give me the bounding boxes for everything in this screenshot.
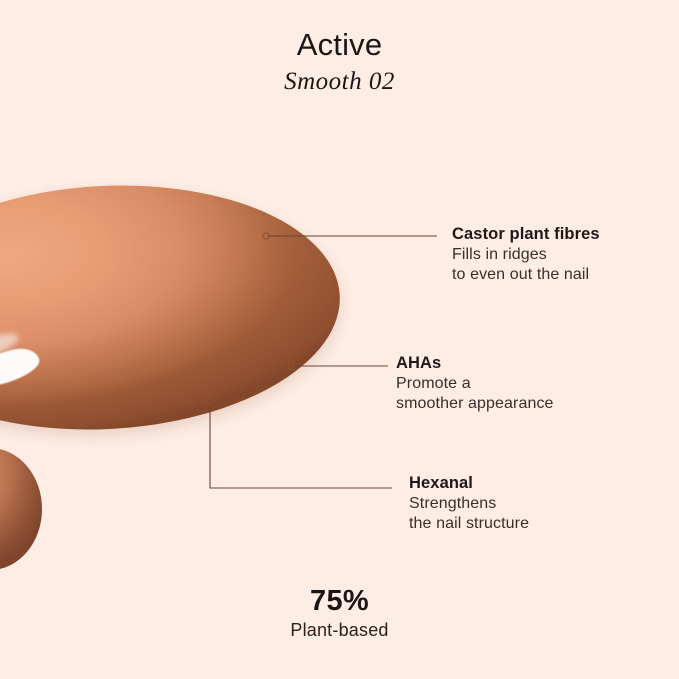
leader-line-hexanal — [210, 405, 392, 488]
callout-hexanal-description: Strengthens the nail structure — [409, 494, 529, 533]
callout-castor-description: Fills in ridges to even out the nail — [452, 245, 600, 284]
callout-castor-title: Castor plant fibres — [452, 224, 600, 245]
callout-castor: Castor plant fibres Fills in ridges to e… — [452, 224, 600, 284]
callout-ahas-description-line-2: smoother appearance — [396, 394, 554, 414]
footer: 75% Plant-based — [0, 586, 679, 642]
plant-based-label: Plant-based — [0, 620, 679, 642]
callout-hexanal-title: Hexanal — [409, 473, 529, 494]
leader-lines — [0, 0, 679, 679]
plant-based-percentage: 75% — [0, 586, 679, 616]
callout-castor-description-line-1: Fills in ridges — [452, 245, 600, 265]
leader-marker-hexanal-icon — [207, 399, 213, 405]
callout-ahas-title: AHAs — [396, 353, 554, 374]
callout-hexanal-description-line-1: Strengthens — [409, 494, 529, 514]
callout-ahas-description: Promote a smoother appearance — [396, 374, 554, 413]
callout-ahas-description-line-1: Promote a — [396, 374, 554, 394]
callout-ahas: AHAs Promote a smoother appearance — [396, 353, 554, 413]
callout-castor-description-line-2: to even out the nail — [452, 265, 600, 285]
callout-hexanal: Hexanal Strengthens the nail structure — [409, 473, 529, 533]
product-ingredient-infographic: Active Smooth 02 Castor plant fibres Fil… — [0, 0, 679, 679]
callout-hexanal-description-line-2: the nail structure — [409, 514, 529, 534]
